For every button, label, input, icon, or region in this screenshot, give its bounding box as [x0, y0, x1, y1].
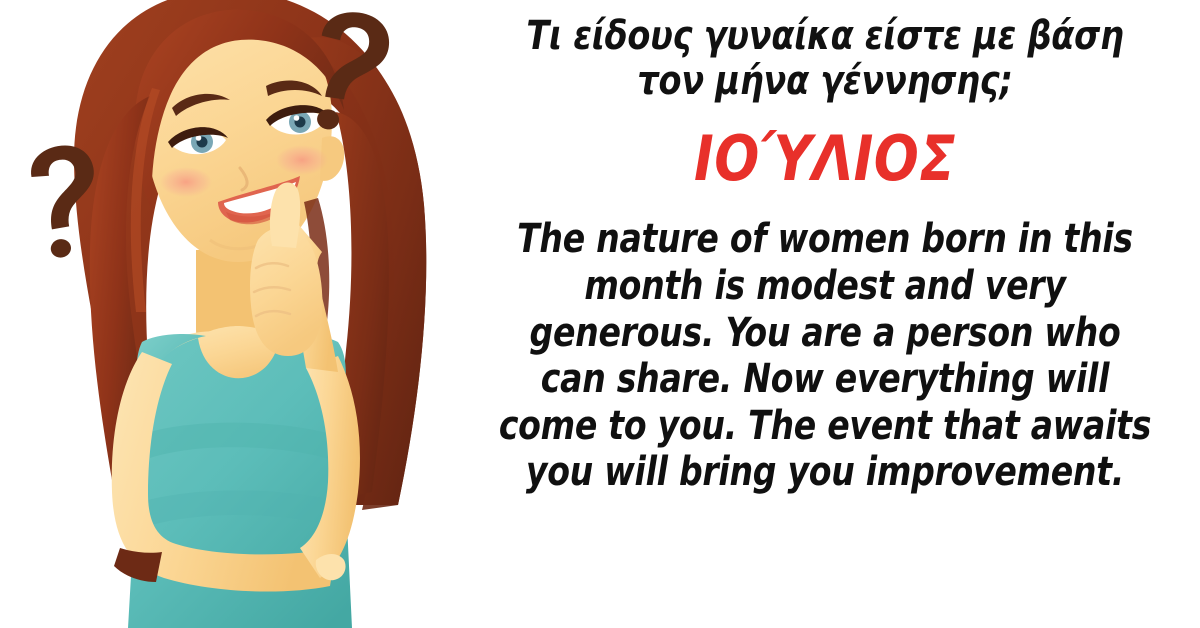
text-panel: Τι είδους γυναίκα είστε με βάση τον μήνα…: [450, 0, 1200, 628]
month-title: ΙΟΎΛΙΟΣ: [484, 128, 1166, 190]
hair-strand-bottom: [114, 548, 162, 582]
horoscope-body-text: The nature of women born in this month i…: [495, 216, 1156, 496]
headline-question: Τι είδους γυναίκα είστε με βάση τον μήνα…: [491, 14, 1159, 104]
cheek-blush-left: [160, 167, 212, 197]
cheek-blush-right: [276, 145, 328, 175]
thinking-woman-illustration: [0, 0, 450, 628]
poster-root: Τι είδους γυναίκα είστε με βάση τον μήνα…: [0, 0, 1200, 628]
